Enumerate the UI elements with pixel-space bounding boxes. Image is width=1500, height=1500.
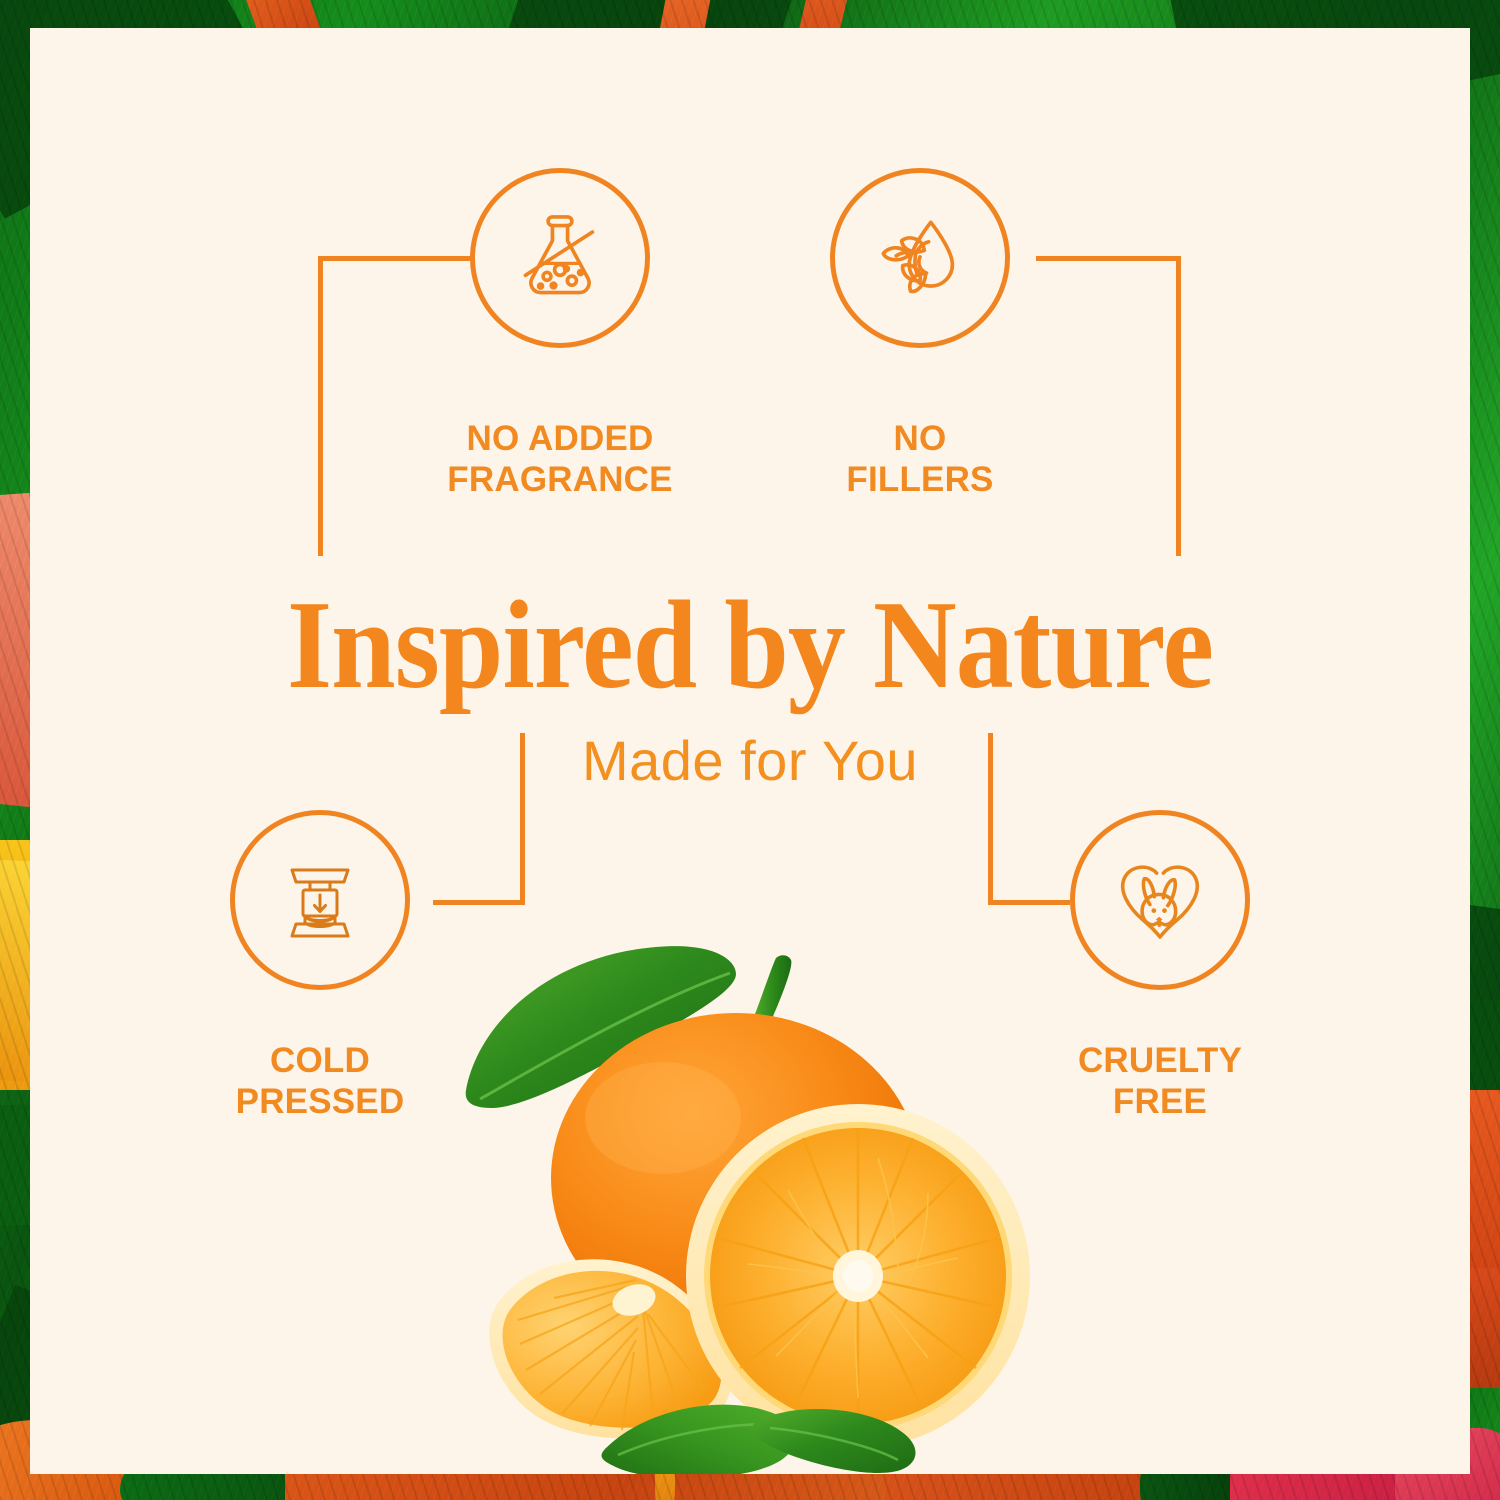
feature-icon-circle-no-fillers[interactable] (830, 168, 1010, 348)
bunny-heart-icon (1104, 844, 1216, 956)
connector-line-top-right-horizontal (1036, 256, 1181, 261)
droplet-leaf-icon (866, 204, 974, 312)
poster: NO ADDED FRAGRANCE NO FILLERS (0, 0, 1500, 1500)
connector-line-top-left-vertical (318, 256, 323, 556)
feature-label-no-fillers: NO FILLERS (800, 418, 1040, 501)
content-card: NO ADDED FRAGRANCE NO FILLERS (30, 28, 1470, 1474)
feature-icon-circle-cruelty-free[interactable] (1070, 810, 1250, 990)
connector-line-bottom-left-horizontal (433, 900, 525, 905)
feature-icon-circle-no-added-fragrance[interactable] (470, 168, 650, 348)
connector-line-top-right-vertical (1176, 256, 1181, 556)
feature-label-no-added-fragrance: NO ADDED FRAGRANCE (390, 418, 730, 501)
feature-label-cruelty-free: CRUELTY FREE (1030, 1040, 1290, 1123)
flask-no-fragrance-icon (506, 204, 614, 312)
orange-fruit-photo (458, 928, 1038, 1474)
connector-line-bottom-right-horizontal (988, 900, 1070, 905)
press-machine-icon (270, 850, 370, 950)
page-subtitle: Made for You (30, 728, 1470, 793)
feature-label-cold-pressed: COLD PRESSED (190, 1040, 450, 1123)
orange-slice-half (686, 1104, 1030, 1448)
feature-icon-circle-cold-pressed[interactable] (230, 810, 410, 990)
page-title: Inspired by Nature (88, 583, 1413, 709)
